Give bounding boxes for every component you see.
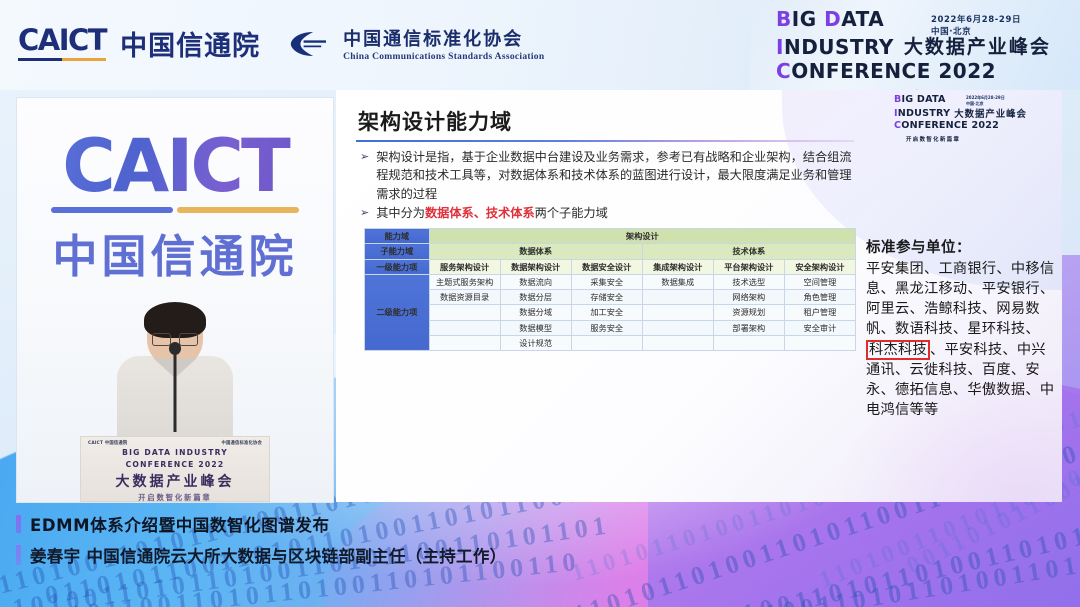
table-row-subdomain: 子能力域 数据体系 技术体系 [365, 244, 856, 259]
slide-logo-subtitle: 开启数智化新篇章 [906, 135, 1054, 143]
ccsa-swoosh-icon [286, 27, 334, 61]
podium-sign: CAICT 中国信通院 中国通信标准化协会 BIG DATA INDUSTRY … [80, 436, 270, 502]
conference-place: 中国·北京 [931, 26, 971, 42]
conference-en-line1: BIG DATA [776, 8, 1066, 32]
notes-body: 平安集团、工商银行、中移信息、黑龙江移动、平安银行、阿里云、浩鲸科技、网易数帆、… [866, 259, 1056, 420]
slide-logo-line2-row: INDUSTRY 大数据产业峰会 [894, 106, 1054, 120]
bullet2-prefix: 其中分为 [376, 206, 425, 220]
ccsa-logo: 中国通信标准化协会 China Communications Standards… [286, 25, 544, 62]
podium-subtitle: 开启数智化新篇章 [81, 493, 269, 503]
cell-l2-r1-c3 [642, 290, 713, 305]
podium-cn-title: 大数据产业峰会 [81, 471, 269, 491]
cell-level1-5: 安全架构设计 [784, 259, 855, 274]
slide-conference-logo: BIG DATA INDUSTRY 大数据产业峰会 CONFERENCE 202… [894, 94, 1054, 143]
table-row-domain: 能力域 架构设计 [365, 229, 856, 244]
session-title-caption: EDMM体系介绍暨中国数智化图谱发布 [16, 512, 330, 536]
cell-l2-r1-c2: 存储安全 [571, 290, 642, 305]
cell-l2-r2-c1: 数据分域 [500, 305, 571, 320]
row-label-subdomain: 子能力域 [365, 244, 430, 259]
bullet-item-2: ➢ 其中分为数据体系、技术体系两个子能力域 [360, 204, 858, 222]
table-row-level2-2: 数据资源目录 数据分层 存储安全 网络架构 角色管理 [365, 290, 856, 305]
caict-logo-underline [18, 58, 106, 61]
slide-title: 架构设计能力域 [358, 106, 512, 136]
cell-l2-r0-c0: 主题式服务架构 [429, 274, 500, 289]
bullet-text-1: 架构设计是指，基于企业数据中台建设及业务需求，参考已有战略和企业架构，结合组流程… [376, 148, 858, 203]
cell-l2-r3-c1: 数据模型 [500, 320, 571, 335]
cell-l2-r4-c3 [642, 335, 713, 350]
cell-level1-1: 数据架构设计 [500, 259, 571, 274]
bullet-text-2: 其中分为数据体系、技术体系两个子能力域 [376, 204, 608, 222]
podium-left-mark: CAICT 中国信通院 [88, 440, 127, 446]
cell-l2-r3-c0 [429, 320, 500, 335]
podium-top-marks: CAICT 中国信通院 中国通信标准化协会 [81, 437, 269, 446]
slide-logo-cn-title: 大数据产业峰会 [954, 106, 1027, 120]
cell-l2-r1-c0: 数据资源目录 [429, 290, 500, 305]
cell-level1-0: 服务架构设计 [429, 259, 500, 274]
cell-l2-r1-c4: 网络架构 [713, 290, 784, 305]
bullet-marker-icon: ➢ [360, 204, 369, 222]
cell-subdomain-tech: 技术体系 [642, 244, 855, 259]
backdrop-caict-letters: CAICT [51, 132, 299, 201]
backdrop-caict-logo: CAICT 中国信通院 [51, 132, 299, 285]
conference-en-line2-row: INDUSTRY 大数据产业峰会 [776, 32, 1066, 60]
conference-en-line3: CONFERENCE 2022 [776, 60, 1066, 84]
cell-level1-3: 集成架构设计 [642, 259, 713, 274]
cell-l2-r4-c2 [571, 335, 642, 350]
cell-level1-4: 平台架构设计 [713, 259, 784, 274]
backdrop-caict-chinese: 中国信通院 [51, 220, 299, 285]
ccsa-text-block: 中国通信标准化协会 China Communications Standards… [343, 25, 544, 62]
table-row-level2-5: 设计规范 [365, 335, 856, 350]
conference-cn-title: 大数据产业峰会 [904, 32, 1051, 60]
notes-highlighted-company: 科杰科技 [866, 340, 930, 360]
speaker-name-caption: 姜春宇 中国信通院云大所大数据与区块链部副主任（主持工作） [16, 543, 506, 567]
cell-l2-r1-c1: 数据分层 [500, 290, 571, 305]
table-row-level1: 一级能力项 服务架构设计 数据架构设计 数据安全设计 集成架构设计 平台架构设计… [365, 259, 856, 274]
notes-text-before: 平安集团、工商银行、中移信息、黑龙江移动、平安银行、阿里云、浩鲸科技、网易数帆、… [866, 261, 1054, 337]
row-label-level1: 一级能力项 [365, 259, 430, 274]
cell-l2-r4-c0 [429, 335, 500, 350]
cell-level1-2: 数据安全设计 [571, 259, 642, 274]
cell-l2-r0-c1: 数据流向 [500, 274, 571, 289]
page-header: CAICT 中国信通院 中国通信标准化协会 China Communicatio… [0, 0, 1080, 90]
table-row-level2-4: 数据模型 服务安全 部署架构 安全审计 [365, 320, 856, 335]
cell-l2-r4-c5 [784, 335, 855, 350]
slide-logo-en-line3: CONFERENCE 2022 [894, 120, 1054, 132]
podium-right-mark: 中国通信标准化协会 [222, 440, 262, 446]
cell-l2-r2-c3 [642, 305, 713, 320]
bullet-item-1: ➢ 架构设计是指，基于企业数据中台建设及业务需求，参考已有战略和企业架构，结合组… [360, 148, 858, 203]
microphone-stem-icon [174, 346, 177, 432]
bullet2-suffix: 两个子能力域 [535, 206, 608, 220]
notes-title: 标准参与单位： [866, 236, 1056, 257]
slide-title-divider [356, 140, 854, 142]
speaker-figure [105, 306, 245, 456]
cell-domain: 架构设计 [429, 229, 855, 244]
row-label-level2: 二级能力项 [365, 274, 430, 350]
standard-participants-note: 标准参与单位： 平安集团、工商银行、中移信息、黑龙江移动、平安银行、阿里云、浩鲸… [866, 236, 1056, 420]
ccsa-english-name: China Communications Standards Associati… [343, 52, 544, 62]
speaker-name-text: 姜春宇 中国信通院云大所大数据与区块链部副主任（主持工作） [30, 543, 506, 567]
cell-l2-r0-c4: 技术选型 [713, 274, 784, 289]
cell-l2-r0-c3: 数据集成 [642, 274, 713, 289]
slide-logo-en-line2: INDUSTRY [894, 108, 950, 120]
conference-lockup: BIG DATA INDUSTRY 大数据产业峰会 CONFERENCE 202… [776, 8, 1066, 86]
conference-en-line2: INDUSTRY [776, 36, 894, 60]
cell-l2-r3-c2: 服务安全 [571, 320, 642, 335]
slide-bullet-list: ➢ 架构设计是指，基于企业数据中台建设及业务需求，参考已有战略和企业架构，结合组… [360, 148, 858, 222]
caict-logo-letters: CAICT [18, 26, 106, 55]
cell-l2-r2-c5: 租户管理 [784, 305, 855, 320]
capability-table: 能力域 架构设计 子能力域 数据体系 技术体系 一级能力项 服务架构设计 数据架… [364, 228, 856, 351]
caption-accent-bar-icon [16, 515, 21, 533]
ccsa-chinese-name: 中国通信标准化协会 [343, 25, 544, 51]
cell-l2-r2-c2: 加工安全 [571, 305, 642, 320]
table-row-level2-1: 二级能力项 主题式服务架构 数据流向 采集安全 数据集成 技术选型 空间管理 [365, 274, 856, 289]
cell-subdomain-data: 数据体系 [429, 244, 642, 259]
cell-l2-r2-c4: 资源规划 [713, 305, 784, 320]
podium-en-line2: CONFERENCE 2022 [81, 460, 269, 470]
podium-en-line1: BIG DATA INDUSTRY [81, 448, 269, 458]
speaker-video-pane[interactable]: CAICT 中国信通院 CAICT 中国信通院 中国通信标准化协会 BIG DA… [16, 97, 334, 503]
caption-accent-bar-icon [16, 545, 21, 565]
slide-logo-place: 中国·北京 [966, 101, 984, 108]
bullet2-highlight: 数据体系、技术体系 [425, 206, 535, 220]
cell-l2-r1-c5: 角色管理 [784, 290, 855, 305]
row-label-domain: 能力域 [365, 229, 430, 244]
cell-l2-r3-c4: 部署架构 [713, 320, 784, 335]
cell-l2-r4-c4 [713, 335, 784, 350]
caict-logo-chinese: 中国信通院 [120, 24, 260, 63]
bullet-marker-icon: ➢ [360, 148, 369, 203]
screenshot-root: 1101001101011010011010110100110101 01101… [0, 0, 1080, 607]
cell-l2-r2-c0 [429, 305, 500, 320]
header-logo-group: CAICT 中国信通院 中国通信标准化协会 China Communicatio… [18, 24, 544, 63]
cell-l2-r3-c3 [642, 320, 713, 335]
caict-logo: CAICT [18, 26, 106, 61]
session-title-text: EDMM体系介绍暨中国数智化图谱发布 [30, 512, 330, 536]
table-row-level2-3: 数据分域 加工安全 资源规划 租户管理 [365, 305, 856, 320]
cell-l2-r3-c5: 安全审计 [784, 320, 855, 335]
cell-l2-r4-c1: 设计规范 [500, 335, 571, 350]
cell-l2-r0-c5: 空间管理 [784, 274, 855, 289]
cell-l2-r0-c2: 采集安全 [571, 274, 642, 289]
